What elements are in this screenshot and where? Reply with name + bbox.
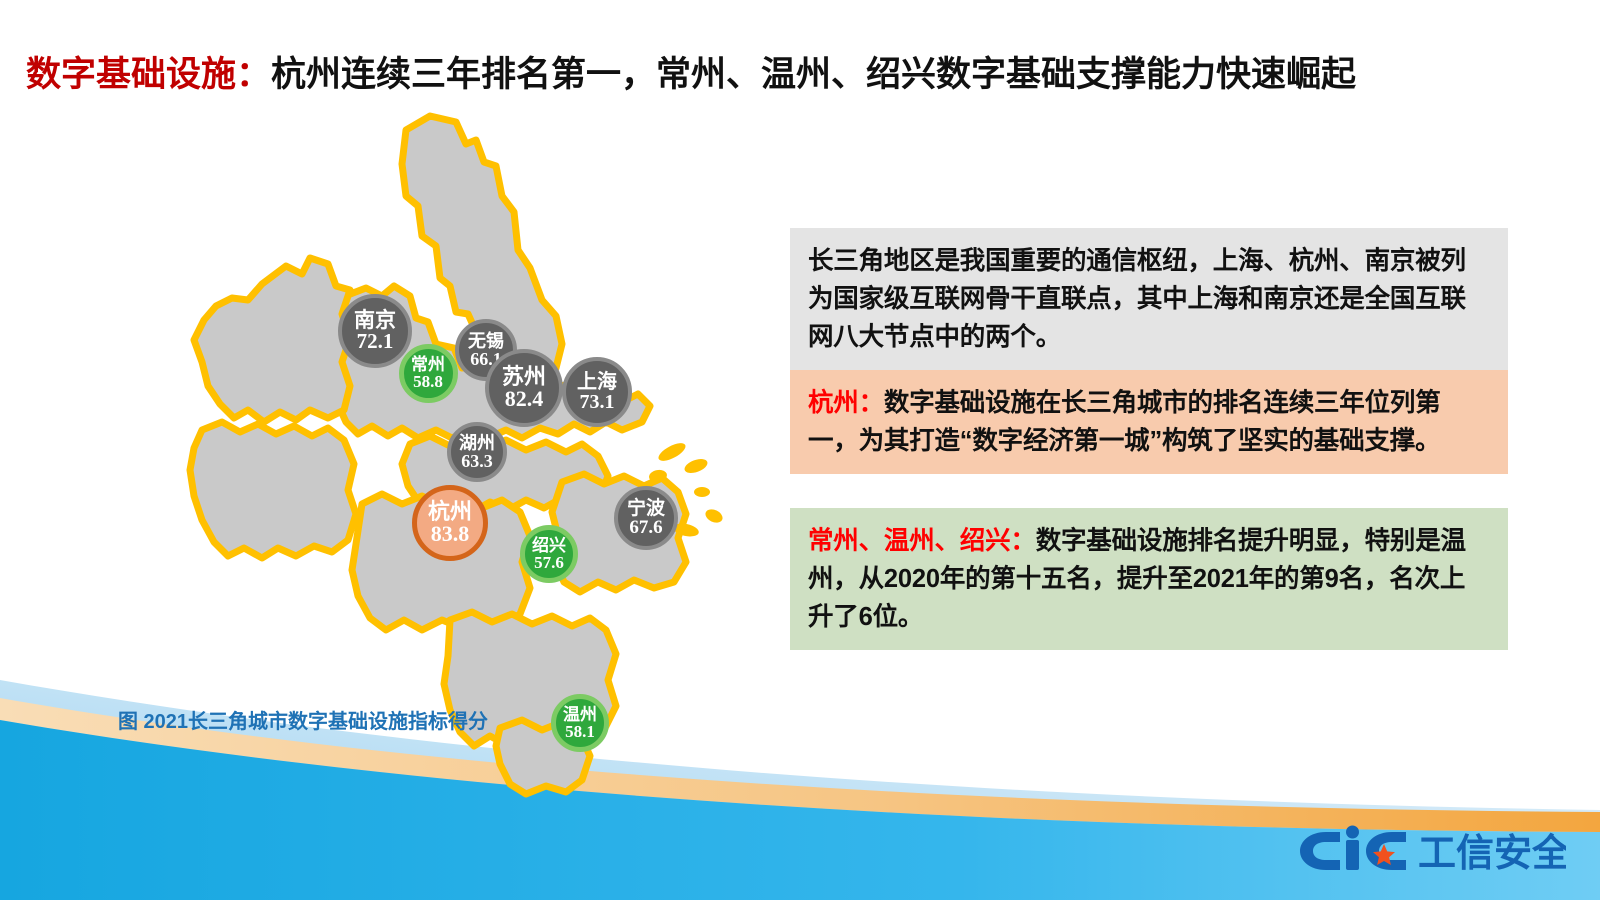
map-bubble-value: 72.1 — [357, 331, 394, 352]
textbox-risers: 常州、温州、绍兴：数字基础设施排名提升明显，特别是温州，从2020年的第十五名，… — [790, 508, 1508, 650]
map-bubble-value: 73.1 — [580, 392, 615, 412]
map-bubble-city-label: 杭州 — [428, 501, 472, 523]
yangtze-delta-map[interactable]: 南京72.1无锡66.1常州58.8苏州82.4上海73.1湖州63.3杭州83… — [110, 100, 750, 800]
map-bubble-上海[interactable]: 上海73.1 — [562, 357, 632, 427]
map-bubble-苏州[interactable]: 苏州82.4 — [485, 349, 563, 427]
map-bubble-绍兴[interactable]: 绍兴57.6 — [520, 525, 578, 583]
page-title-highlight: 数字基础设施： — [26, 55, 271, 94]
map-caption: 图 2021长三角城市数字基础设施指标得分 — [118, 705, 488, 734]
map-bubble-宁波[interactable]: 宁波67.6 — [614, 486, 678, 550]
map-bubble-南京[interactable]: 南京72.1 — [338, 294, 412, 368]
map-bubble-value: 63.3 — [461, 452, 493, 470]
map-bubble-湖州[interactable]: 湖州63.3 — [447, 422, 507, 482]
map-bubble-value: 82.4 — [505, 388, 544, 410]
map-bubble-city-label: 绍兴 — [532, 537, 566, 554]
map-bubble-value: 57.6 — [534, 554, 564, 571]
textbox-intro-body: 长三角地区是我国重要的通信枢纽，上海、杭州、南京被列为国家级互联网骨干直联点，其… — [808, 247, 1466, 351]
textbox-risers-highlight: 常州、温州、绍兴： — [808, 527, 1036, 555]
brand-logo-svg: 工信安全 — [1296, 824, 1566, 876]
map-bubble-温州[interactable]: 温州58.1 — [551, 694, 609, 752]
map-bubble-杭州[interactable]: 杭州83.8 — [412, 485, 488, 561]
map-bubble-value: 58.8 — [413, 373, 443, 390]
map-bubble-city-label: 湖州 — [459, 434, 495, 452]
map-bubble-city-label: 宁波 — [627, 499, 665, 518]
map-regions-svg — [110, 100, 750, 800]
region-west-anhui-north — [194, 258, 350, 422]
textbox-hangzhou-body: 数字基础设施在长三角城市的排名连续三年位列第一，为其打造“数字经济第一城”构筑了… — [808, 389, 1441, 455]
region-south-anhui — [190, 422, 356, 558]
map-bubble-city-label: 南京 — [354, 310, 396, 331]
map-bubble-value: 83.8 — [431, 523, 470, 545]
textbox-hangzhou-highlight: 杭州： — [808, 389, 884, 417]
slide-canvas: 数字基础设施：杭州连续三年排名第一，常州、温州、绍兴数字基础支撑能力快速崛起 — [0, 0, 1600, 900]
map-bubble-value: 67.6 — [629, 518, 662, 537]
textbox-intro: 长三角地区是我国重要的通信枢纽，上海、杭州、南京被列为国家级互联网骨干直联点，其… — [790, 228, 1508, 370]
map-bubble-city-label: 常州 — [411, 356, 445, 373]
map-bubble-常州[interactable]: 常州58.8 — [399, 344, 458, 403]
textbox-hangzhou: 杭州：数字基础设施在长三角城市的排名连续三年位列第一，为其打造“数字经济第一城”… — [790, 370, 1508, 474]
map-bubble-city-label: 无锡 — [468, 332, 504, 350]
page-title-rest: 杭州连续三年排名第一，常州、温州、绍兴数字基础支撑能力快速崛起 — [271, 55, 1356, 94]
map-bubble-city-label: 上海 — [577, 372, 617, 392]
page-title: 数字基础设施：杭州连续三年排名第一，常州、温州、绍兴数字基础支撑能力快速崛起 — [26, 48, 1446, 102]
map-bubble-value: 58.1 — [565, 723, 595, 740]
map-bubble-city-label: 苏州 — [502, 366, 546, 388]
logo-text: 工信安全 — [1418, 832, 1566, 875]
map-bubble-city-label: 温州 — [563, 706, 597, 723]
brand-logo: 工信安全 — [1296, 824, 1566, 876]
